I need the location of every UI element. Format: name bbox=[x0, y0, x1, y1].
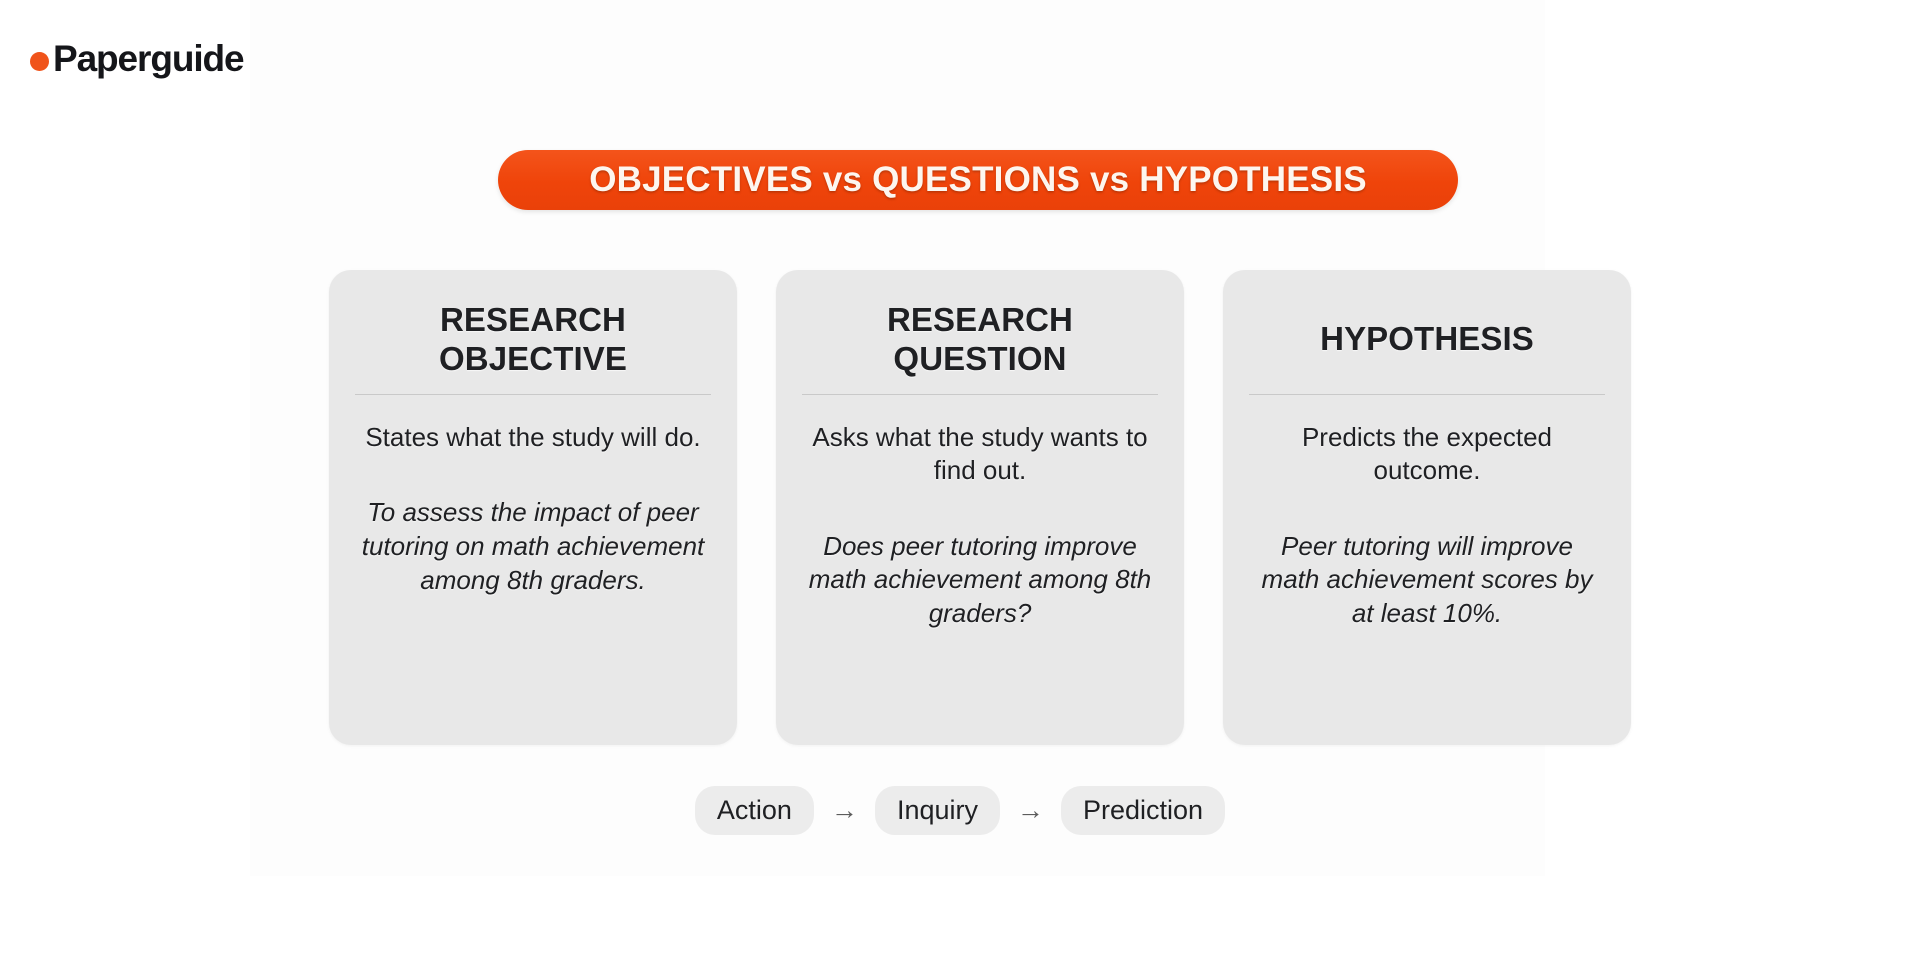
card-example: Does peer tutoring improve math achievem… bbox=[802, 530, 1158, 631]
card-example: Peer tutoring will improve math achievem… bbox=[1249, 530, 1605, 631]
card-definition: Predicts the expected outcome. bbox=[1249, 421, 1605, 488]
brand-name: Paperguide bbox=[53, 40, 244, 77]
flow-summary: Action → Inquiry → Prediction bbox=[0, 786, 1920, 835]
infographic-page: Paperguide OBJECTIVES vs QUESTIONS vs HY… bbox=[0, 0, 1920, 960]
title-banner: OBJECTIVES vs QUESTIONS vs HYPOTHESIS bbox=[498, 150, 1458, 210]
arrow-right-icon: → bbox=[1014, 797, 1047, 824]
card-divider bbox=[1249, 394, 1605, 395]
card-heading: RESEARCH OBJECTIVE bbox=[355, 298, 711, 380]
card-hypothesis: HYPOTHESIS Predicts the expected outcome… bbox=[1223, 270, 1631, 745]
brand-logo[interactable]: Paperguide bbox=[30, 40, 244, 77]
card-divider bbox=[802, 394, 1158, 395]
card-example: To assess the impact of peer tutoring on… bbox=[355, 496, 711, 597]
card-heading: HYPOTHESIS bbox=[1320, 298, 1534, 380]
card-definition: States what the study will do. bbox=[365, 421, 700, 454]
card-definition: Asks what the study wants to find out. bbox=[802, 421, 1158, 488]
card-divider bbox=[355, 394, 711, 395]
flow-step-prediction: Prediction bbox=[1061, 786, 1225, 835]
flow-step-action: Action bbox=[695, 786, 814, 835]
orange-dot-icon bbox=[30, 52, 49, 71]
arrow-right-icon: → bbox=[828, 797, 861, 824]
card-research-objective: RESEARCH OBJECTIVE States what the study… bbox=[329, 270, 737, 745]
card-heading: RESEARCH QUESTION bbox=[802, 298, 1158, 380]
card-research-question: RESEARCH QUESTION Asks what the study wa… bbox=[776, 270, 1184, 745]
flow-step-inquiry: Inquiry bbox=[875, 786, 1000, 835]
page-title: OBJECTIVES vs QUESTIONS vs HYPOTHESIS bbox=[589, 160, 1367, 200]
comparison-card-row: RESEARCH OBJECTIVE States what the study… bbox=[329, 270, 1631, 745]
